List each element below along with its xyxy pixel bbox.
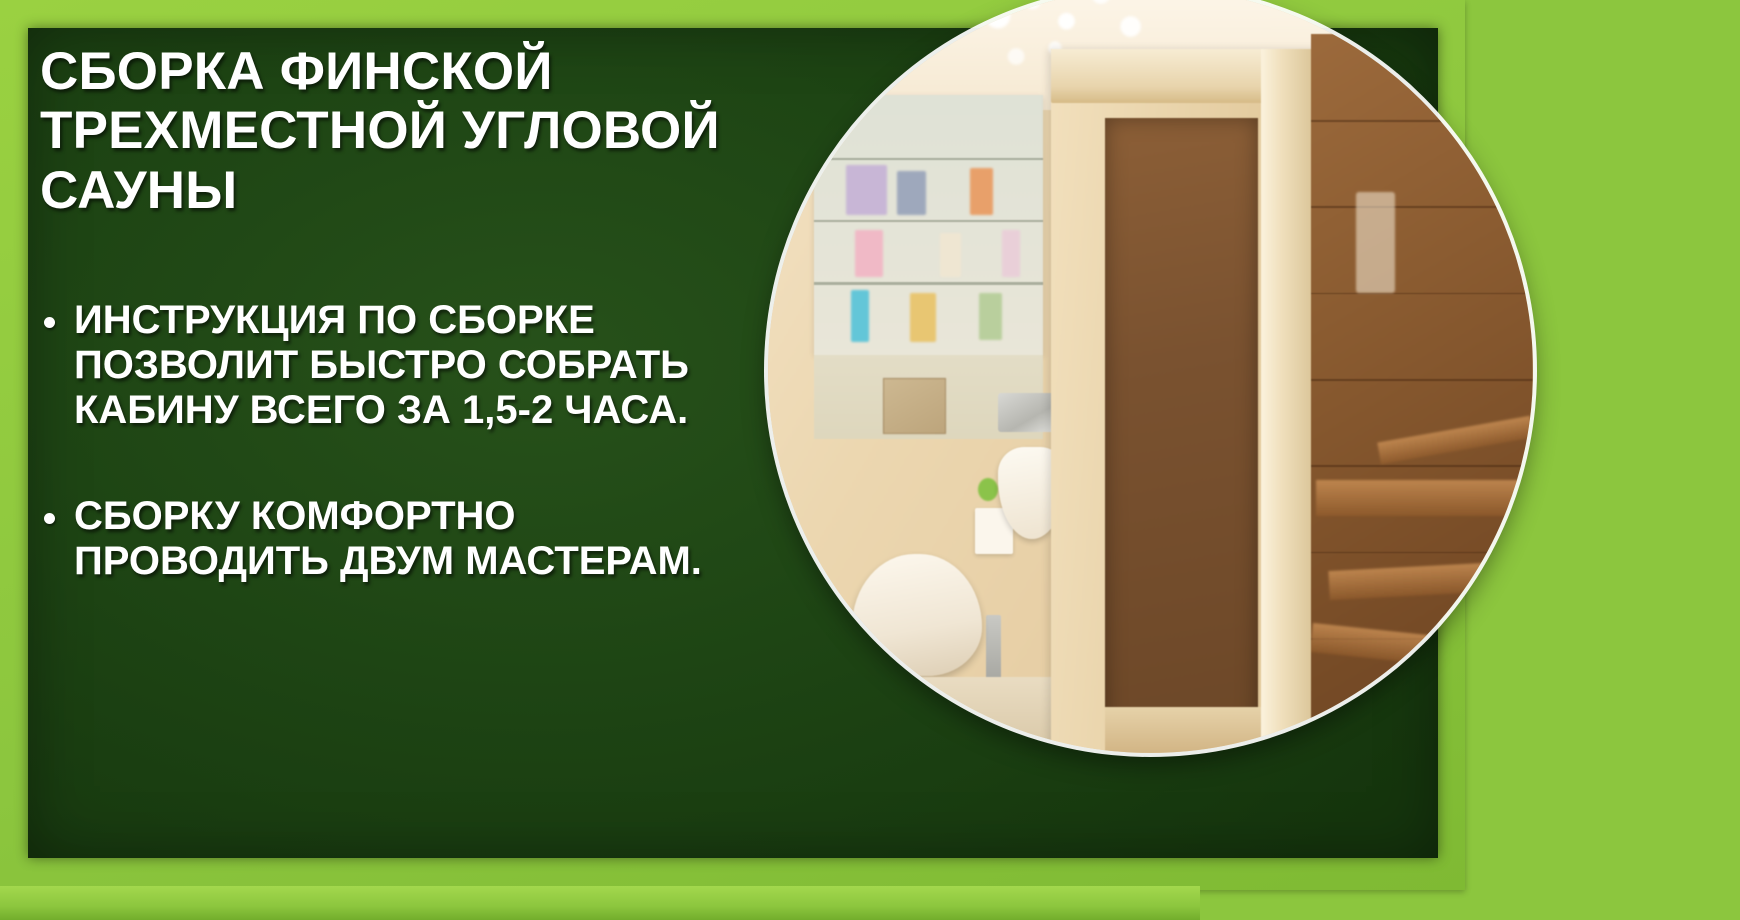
bullet-dot-icon bbox=[44, 317, 55, 328]
photo-flush-plate bbox=[998, 393, 1059, 431]
photo-sauna-door-jamb bbox=[1261, 49, 1311, 753]
photo-scene bbox=[768, 0, 1533, 753]
slide-root: СБОРКА ФИНСКОЙ ТРЕХМЕСТНОЙ УГЛОВОЙ САУНЫ… bbox=[0, 0, 1740, 920]
photo-glass-cabinet bbox=[814, 95, 1044, 355]
text-column: СБОРКА ФИНСКОЙ ТРЕХМЕСТНОЙ УГЛОВОЙ САУНЫ… bbox=[40, 42, 800, 584]
bullet-text: СБОРКУ КОМФОРТНО ПРОВОДИТЬ ДВУМ МАСТЕРАМ… bbox=[74, 494, 702, 583]
bullet-dot-icon bbox=[44, 513, 55, 524]
list-item: СБОРКУ КОМФОРТНО ПРОВОДИТЬ ДВУМ МАСТЕРАМ… bbox=[40, 494, 774, 584]
bullet-list: ИНСТРУКЦИЯ ПО СБОРКЕ ПОЗВОЛИТ БЫСТРО СОБ… bbox=[40, 298, 800, 584]
page-title: СБОРКА ФИНСКОЙ ТРЕХМЕСТНОЙ УГЛОВОЙ САУНЫ bbox=[40, 42, 760, 220]
bullet-text: ИНСТРУКЦИЯ ПО СБОРКЕ ПОЗВОЛИТ БЫСТРО СОБ… bbox=[74, 298, 689, 432]
photo-sauna-door-glass bbox=[1105, 118, 1258, 730]
photo-wall-tile bbox=[883, 378, 946, 434]
list-item: ИНСТРУКЦИЯ ПО СБОРКЕ ПОЗВОЛИТ БЫСТРО СОБ… bbox=[40, 298, 694, 434]
circular-photo bbox=[768, 0, 1533, 753]
photo-sauna-interior bbox=[1311, 34, 1533, 753]
green-bottom-band bbox=[0, 886, 1200, 920]
photo-green-decor bbox=[978, 478, 998, 501]
